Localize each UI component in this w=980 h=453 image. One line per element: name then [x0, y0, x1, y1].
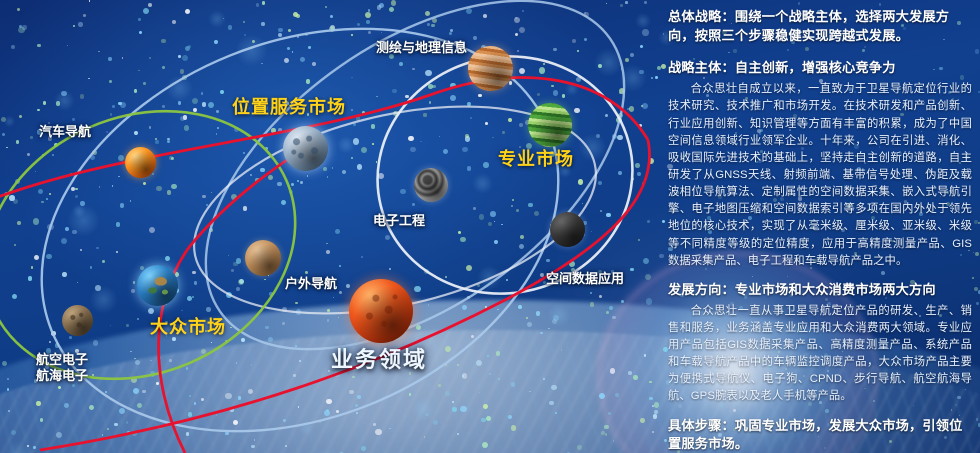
heading-strategy-subject: 战略主体：自主创新，增强核心竞争力	[668, 59, 972, 78]
label-avionics-marine-electronics: 航空电子 航海电子	[36, 352, 88, 385]
label-surveying-and-geographic-information: 测绘与地理信息	[376, 40, 467, 56]
strategy-block-direction: 发展方向：专业市场和大众消费市场两大方向 合众思壮一直从事卫星导航定位产品的研发…	[668, 281, 972, 406]
planet-earth-continents	[137, 265, 178, 306]
planet-mars-surface	[349, 279, 413, 343]
planet-avionics-craters	[62, 305, 93, 336]
strategy-block-steps: 具体步骤：巩固专业市场，发展大众市场，引领位置服务市场。 近年来，合众思壮提供的…	[668, 417, 972, 453]
planet-location-service-craters	[283, 126, 328, 171]
label-mass-market: 大众市场	[150, 316, 226, 339]
strategy-block-overall: 总体战略：围绕一个战略主体，选择两大发展方向，按照三个步骤稳健实现跨越式发展。	[668, 8, 972, 45]
planet-spatial-data	[550, 212, 585, 247]
strategy-block-subject: 战略主体：自主创新，增强核心竞争力 合众思壮自成立以来，一直致力于卫星导航定位行…	[668, 59, 972, 269]
orbit-blue-outer	[0, 0, 619, 453]
heading-development-direction: 发展方向：专业市场和大众消费市场两大方向	[668, 281, 972, 300]
label-car-navigation: 汽车导航	[39, 124, 91, 140]
strategy-text-panel: 总体战略：围绕一个战略主体，选择两大发展方向，按照三个步骤稳健实现跨越式发展。 …	[668, 8, 972, 448]
body-strategy-subject: 合众思壮自成立以来，一直致力于卫星导航定位行业的技术研究、技术推广和市场开发。在…	[668, 81, 972, 270]
label-business-domain: 业务领域	[331, 346, 427, 374]
label-electronic-engineering: 电子工程	[373, 213, 425, 229]
label-professional-market: 专业市场	[498, 148, 574, 171]
infographic-page: 汽车导航 测绘与地理信息 电子工程 空间数据应用 户外导航 航空电子 航海电子 …	[0, 0, 980, 453]
planet-surveying-jupiter	[468, 46, 513, 91]
planet-outdoor-navigation	[245, 240, 281, 276]
body-development-direction: 合众思壮一直从事卫星导航定位产品的研发、生产、销售和服务，业务涵盖专业应用和大众…	[668, 303, 972, 406]
heading-concrete-steps: 具体步骤：巩固专业市场，发展大众市场，引领位置服务市场。	[668, 417, 972, 453]
planet-car-navigation	[125, 147, 156, 178]
label-location-service-market: 位置服务市场	[232, 96, 346, 119]
label-outdoor-navigation: 户外导航	[285, 276, 337, 292]
planet-professional-green	[528, 103, 572, 147]
planet-electronic-engineering	[414, 168, 448, 202]
heading-overall-strategy: 总体战略：围绕一个战略主体，选择两大发展方向，按照三个步骤稳健实现跨越式发展。	[668, 8, 972, 45]
label-spatial-data-application: 空间数据应用	[546, 271, 624, 287]
orbit-red-sweep	[40, 140, 650, 450]
